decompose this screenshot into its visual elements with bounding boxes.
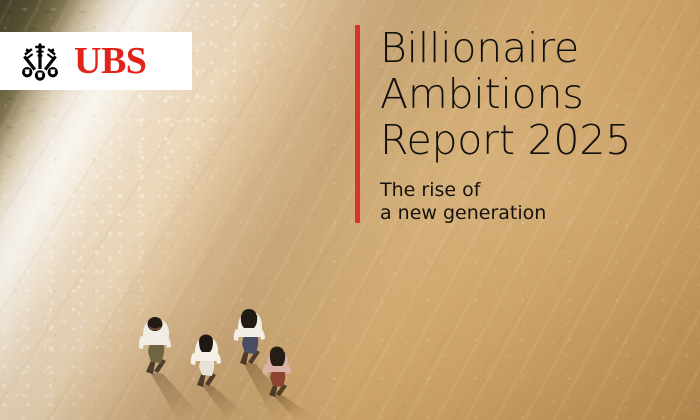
ubs-wordmark: UBS: [74, 42, 146, 80]
walker-2: [191, 335, 221, 388]
report-cover: UBS Billionaire Ambitions Report 2025 Th…: [0, 0, 700, 420]
walker-3: [234, 309, 265, 365]
title-block: Billionaire Ambitions Report 2025 The ri…: [355, 25, 631, 223]
subtitle-line-2: a new generation: [380, 202, 631, 225]
walker-1: [139, 317, 171, 374]
ubs-logo-plate: UBS: [0, 32, 192, 90]
title-line-3: Report 2025: [380, 117, 631, 163]
figure-shadows: [150, 362, 318, 420]
ubs-three-keys-icon: [20, 40, 60, 82]
subtitle-line-1: The rise of: [380, 179, 631, 202]
title-line-2: Ambitions: [380, 71, 631, 117]
title-line-1: Billionaire: [380, 25, 631, 71]
